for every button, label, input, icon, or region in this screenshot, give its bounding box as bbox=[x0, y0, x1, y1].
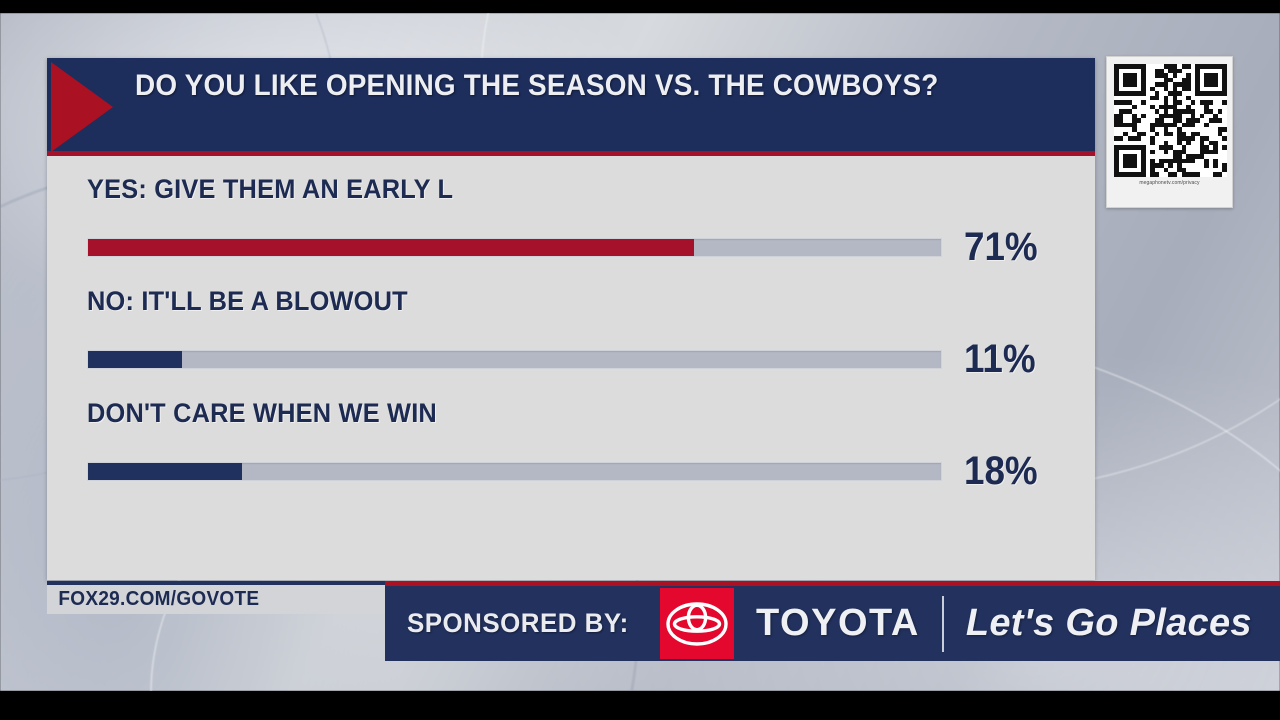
poll-option-percent: 11% bbox=[964, 339, 1036, 379]
toyota-tagline: Let's Go Places bbox=[966, 602, 1252, 645]
poll-option-row: DON'T CARE WHEN WE WIN 18% bbox=[87, 398, 1055, 491]
poll-card: DO YOU LIKE OPENING THE SEASON VS. THE C… bbox=[47, 58, 1095, 580]
qr-code-matrix bbox=[1114, 64, 1227, 177]
poll-option-label: NO: IT'LL BE A BLOWOUT bbox=[87, 286, 997, 317]
toyota-logo-icon bbox=[660, 588, 734, 659]
broadcast-frame: DO YOU LIKE OPENING THE SEASON VS. THE C… bbox=[0, 0, 1280, 720]
poll-header: DO YOU LIKE OPENING THE SEASON VS. THE C… bbox=[47, 58, 1095, 156]
poll-question: DO YOU LIKE OPENING THE SEASON VS. THE C… bbox=[135, 67, 1017, 105]
poll-option-label: DON'T CARE WHEN WE WIN bbox=[87, 398, 997, 429]
sponsor-divider bbox=[942, 596, 944, 652]
poll-bar-track bbox=[87, 350, 942, 369]
toyota-wordmark: TOYOTA bbox=[756, 602, 920, 645]
sponsored-by-label: SPONSORED BY: bbox=[407, 608, 629, 639]
letterbox-top bbox=[0, 0, 1280, 13]
vote-url-text: FOX29.COM/GOVOTE bbox=[47, 588, 259, 611]
poll-option-percent: 71% bbox=[964, 227, 1038, 267]
poll-bar-fill bbox=[88, 463, 242, 480]
sponsor-bar: SPONSORED BY: TOYOTA Let's Go Places bbox=[385, 581, 1280, 661]
poll-option-row: NO: IT'LL BE A BLOWOUT 11% bbox=[87, 286, 1055, 379]
qr-code-caption: megaphonetv.com/privacy bbox=[1114, 180, 1225, 186]
poll-option-bar-line: 11% bbox=[87, 339, 1055, 379]
poll-results-list: YES: GIVE THEM AN EARLY L 71% NO: IT'LL … bbox=[47, 156, 1095, 491]
vote-url-strip: FOX29.COM/GOVOTE bbox=[47, 581, 387, 614]
poll-bar-fill bbox=[88, 351, 182, 368]
poll-bar-track bbox=[87, 462, 942, 481]
poll-option-row: YES: GIVE THEM AN EARLY L 71% bbox=[87, 174, 1055, 267]
poll-bar-track bbox=[87, 238, 942, 257]
poll-option-bar-line: 18% bbox=[87, 451, 1055, 491]
qr-code[interactable]: megaphonetv.com/privacy bbox=[1106, 56, 1233, 208]
poll-option-percent: 18% bbox=[964, 451, 1038, 491]
poll-option-label: YES: GIVE THEM AN EARLY L bbox=[87, 174, 997, 205]
letterbox-bottom bbox=[0, 691, 1280, 720]
poll-bar-fill bbox=[88, 239, 694, 256]
poll-option-bar-line: 71% bbox=[87, 227, 1055, 267]
play-triangle-icon bbox=[51, 62, 113, 152]
